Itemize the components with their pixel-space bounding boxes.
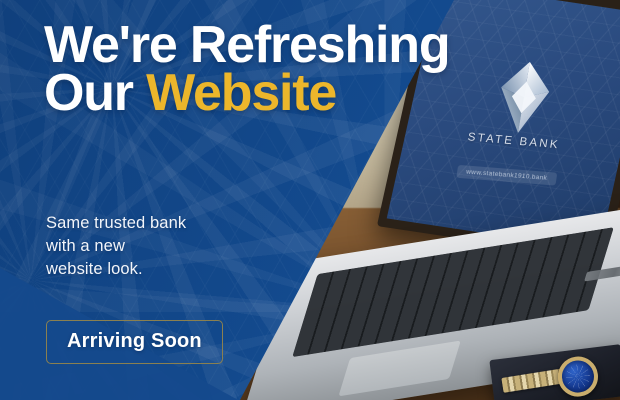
banner-content: We're Refreshing Our Website Same truste… (0, 0, 620, 400)
headline-line-2-plain: Our (44, 64, 146, 122)
subcopy-line-1: Same trusted bank (46, 214, 186, 232)
promo-banner: STATE BANK www.statebank1910.bank We're … (0, 0, 620, 400)
subcopy-line-3: website look. (46, 260, 143, 278)
headline-line-2: Our Website (44, 70, 449, 118)
subcopy: Same trusted bank with a new website loo… (46, 212, 186, 281)
subcopy-line-2: with a new (46, 237, 125, 255)
headline-accent-word: Website (146, 64, 336, 122)
arriving-soon-button[interactable]: Arriving Soon (46, 320, 223, 364)
page-title: We're Refreshing Our Website (44, 22, 449, 118)
